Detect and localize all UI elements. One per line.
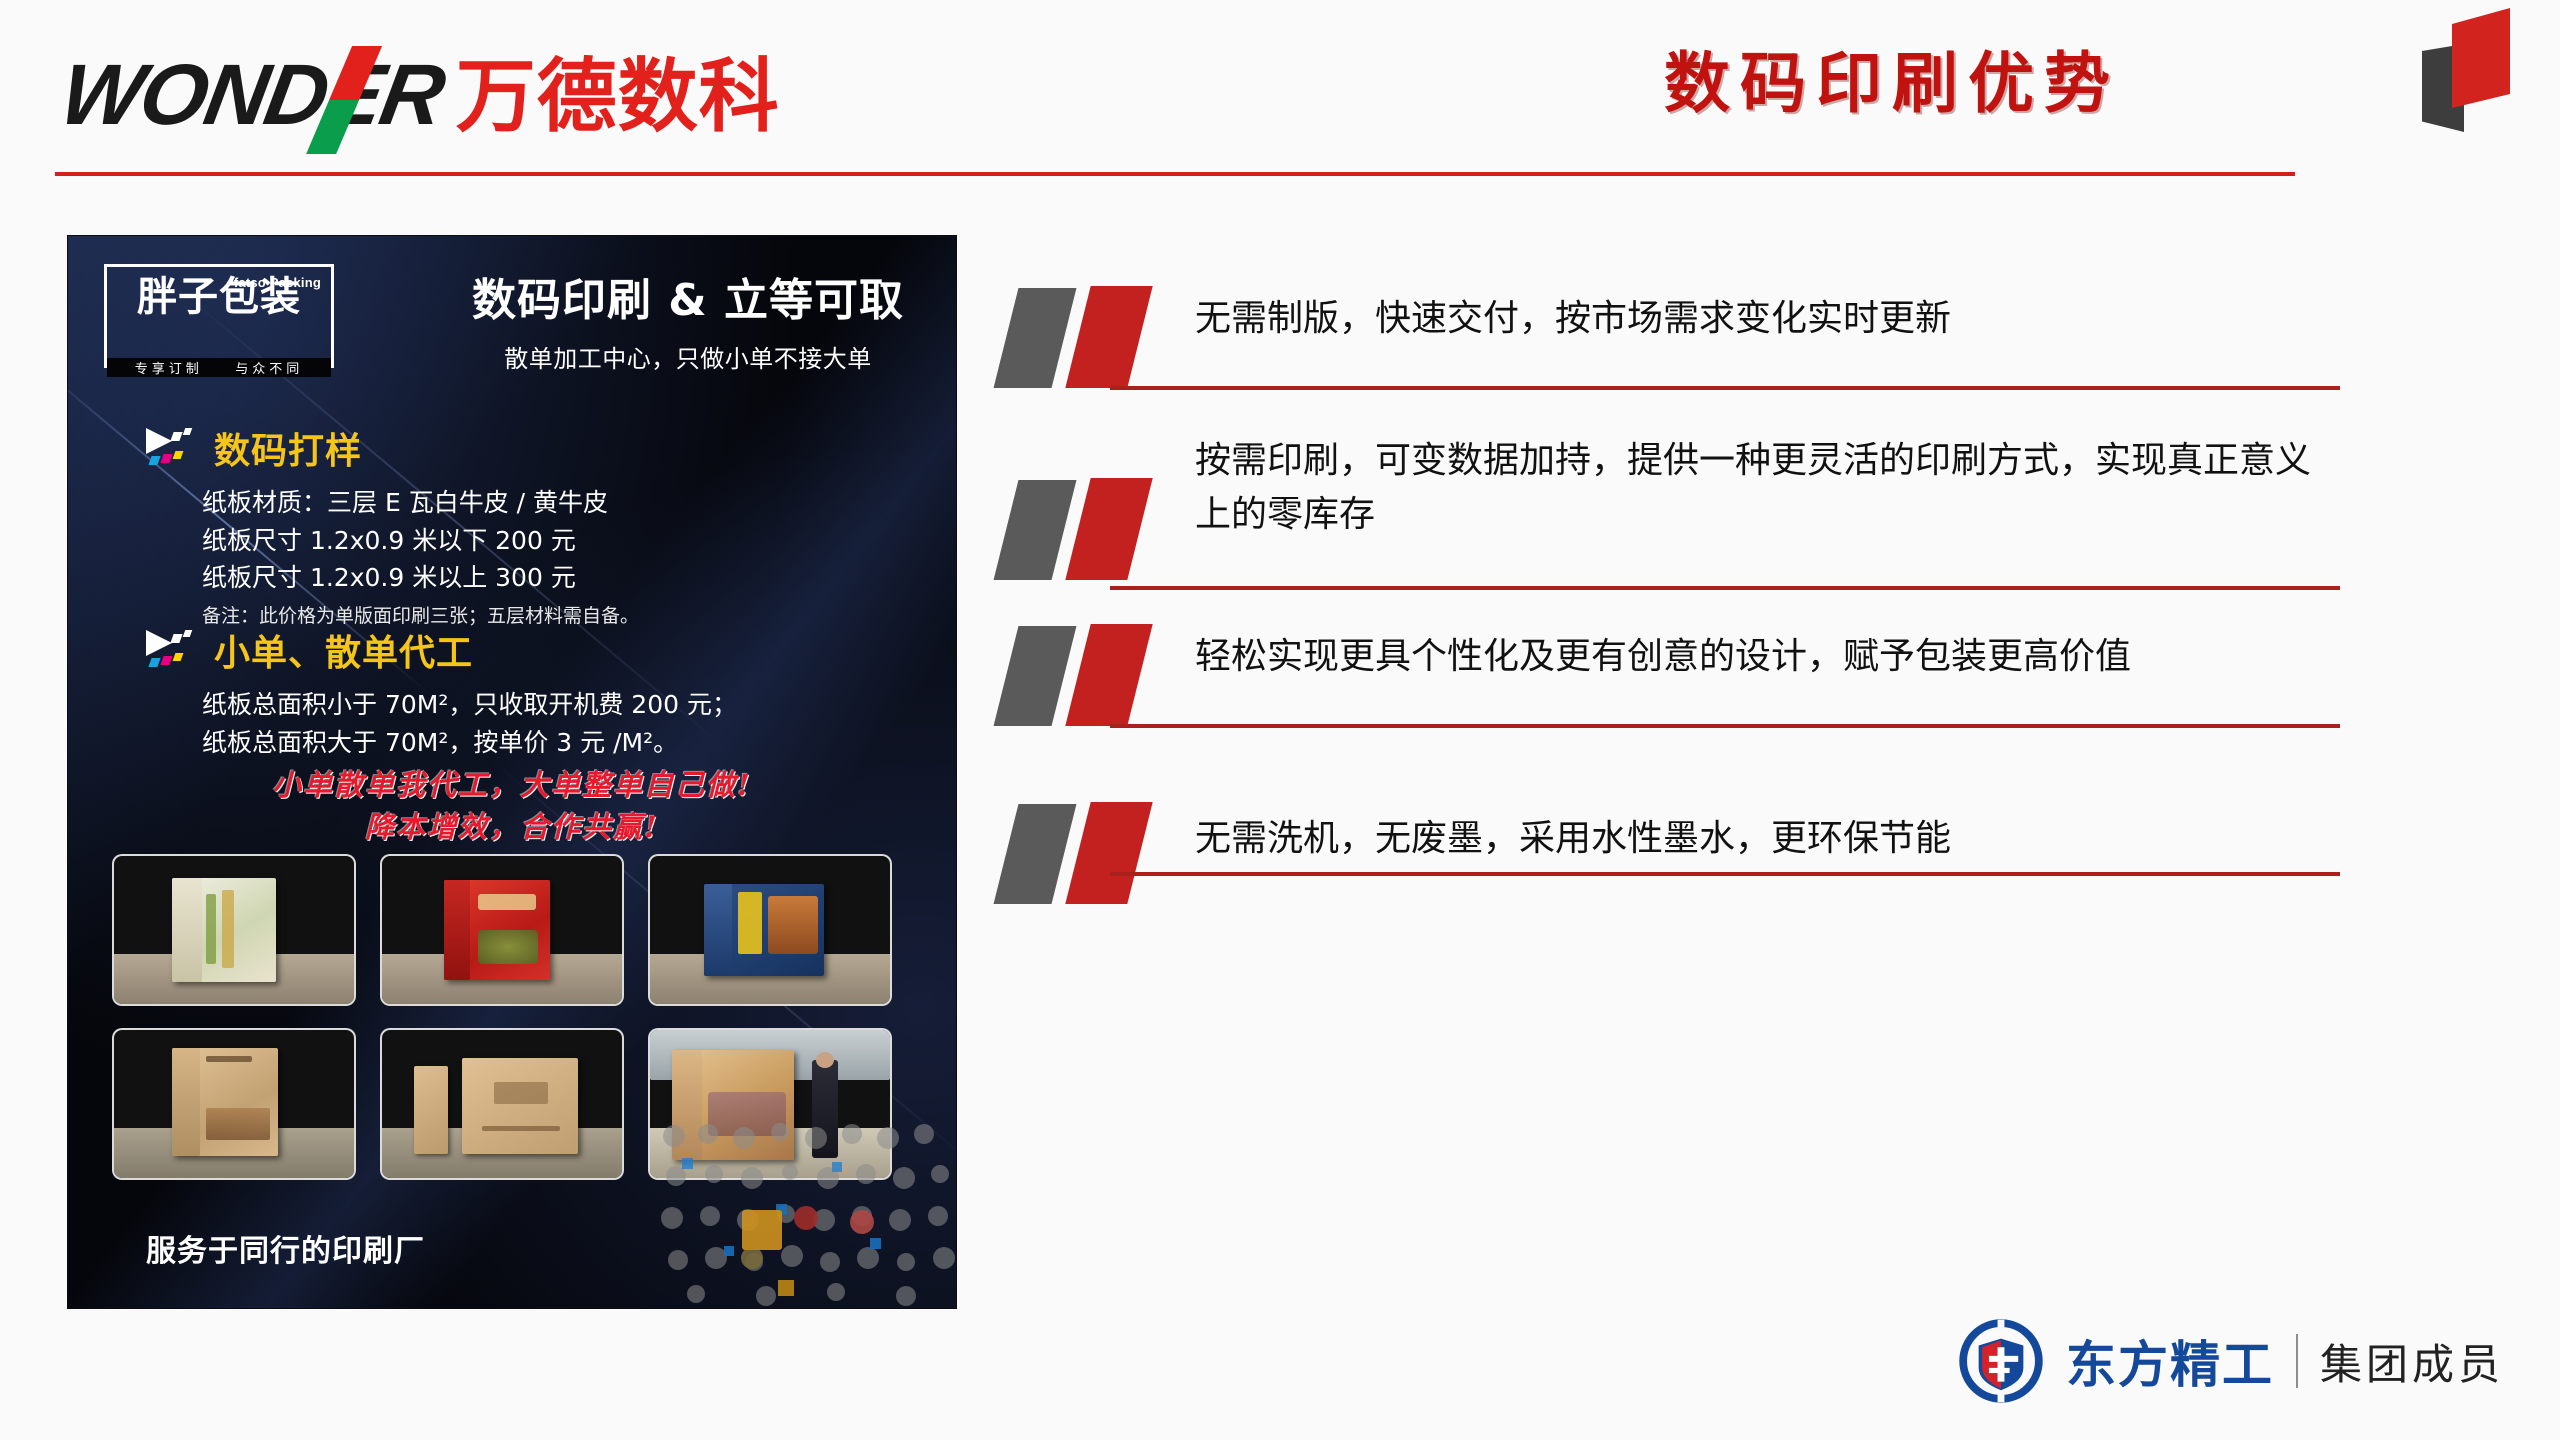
poster-section-proofing: 数码打样 纸板材质：三层 E 瓦白牛皮 / 黄牛皮 纸板尺寸 1.2x0.9 米… bbox=[146, 422, 639, 628]
poster-section-heading: 数码打样 bbox=[146, 422, 639, 474]
advantage-item: 无需制版，快速交付，按市场需求变化实时更新 bbox=[1000, 286, 2340, 352]
brand-latin-label: WONDER bbox=[54, 47, 451, 143]
advantage-text: 轻松实现更具个性化及更有创意的设计，赋予包装更高价值 bbox=[1195, 624, 2340, 690]
product-photo-red-gift-box bbox=[380, 854, 624, 1006]
poster-headline: 数码印刷 & 立等可取 bbox=[448, 276, 928, 327]
header-divider bbox=[55, 172, 2295, 176]
poster-slogan-line-2: 降本增效，合作共赢! bbox=[68, 806, 956, 848]
promo-poster: 胖子包装 fatso Packing 专享订制 与众不同 数码印刷 & 立等可取… bbox=[68, 236, 956, 1308]
group-member-logo: 东方精工 集团成员 bbox=[1958, 1318, 2504, 1404]
product-photo-classic-kraft-boxes bbox=[380, 1028, 624, 1180]
poster-logo-tagline: 专享订制 与众不同 bbox=[107, 358, 331, 377]
bullet-marker-gray-bar bbox=[994, 804, 1077, 904]
bullet-marker-icon bbox=[1000, 478, 1170, 582]
brand-chinese-label: 万德数科 bbox=[456, 57, 780, 137]
poster-headline-block: 数码印刷 & 立等可取 散单加工中心，只做小单不接大单 bbox=[448, 276, 928, 374]
halftone-dot-pattern-icon bbox=[656, 1118, 956, 1308]
bullet-marker-red-bar bbox=[1065, 624, 1152, 726]
corner-bookmark-icon bbox=[2422, 8, 2516, 136]
advantage-item: 按需印刷，可变数据加持，提供一种更灵活的印刷方式，实现真正意义上的零库存 bbox=[1000, 434, 2340, 542]
poster-section-oem: 小单、散单代工 纸板总面积小于 70M²，只收取开机费 200 元； 纸板总面积… bbox=[146, 624, 737, 761]
bullet-marker-gray-bar bbox=[994, 480, 1077, 580]
poster-section-line: 纸板总面积小于 70M²，只收取开机费 200 元； bbox=[202, 686, 737, 724]
poster-footer-text: 服务于同行的印刷厂 bbox=[146, 1226, 425, 1270]
advantage-text: 按需印刷，可变数据加持，提供一种更灵活的印刷方式，实现真正意义上的零库存 bbox=[1195, 434, 2340, 542]
product-photo-honey-gift-box bbox=[112, 854, 356, 1006]
advantage-text: 无需洗机，无废墨，采用水性墨水，更环保节能 bbox=[1195, 772, 2340, 872]
poster-logo-tagline-right: 与众不同 bbox=[235, 362, 303, 377]
poster-section-title: 小单、散单代工 bbox=[214, 624, 473, 676]
poster-section-line: 纸板总面积大于 70M²，按单价 3 元 /M²。 bbox=[202, 724, 737, 762]
advantages-list: 无需制版，快速交付，按市场需求变化实时更新 按需印刷，可变数据加持，提供一种更灵… bbox=[1000, 286, 2340, 954]
slide-root: WONDER 万德数科 数码印刷优势 胖子包装 fatso Packing 专享… bbox=[0, 0, 2560, 1440]
bullet-marker-gray-bar bbox=[994, 288, 1077, 388]
advantage-underline bbox=[1110, 386, 2340, 390]
poster-section-heading: 小单、散单代工 bbox=[146, 624, 737, 676]
advantage-item: 轻松实现更具个性化及更有创意的设计，赋予包装更高价值 bbox=[1000, 624, 2340, 690]
product-photo-kraft-landscape-box bbox=[112, 1028, 356, 1180]
bullet-marker-icon bbox=[1000, 802, 1170, 906]
advantage-item: 无需洗机，无废墨，采用水性墨水，更环保节能 bbox=[1000, 772, 2340, 872]
bullet-marker-icon bbox=[1000, 286, 1170, 390]
poster-section-line: 纸板材质：三层 E 瓦白牛皮 / 黄牛皮 bbox=[202, 484, 639, 522]
poster-slogan-line-1: 小单散单我代工，大单整单自己做! bbox=[68, 764, 956, 806]
bullet-marker-red-bar bbox=[1065, 478, 1152, 580]
bullet-marker-gray-bar bbox=[994, 626, 1077, 726]
poster-section-title: 数码打样 bbox=[214, 422, 362, 474]
dongfang-emblem-icon bbox=[1958, 1318, 2044, 1404]
arrow-bullet-icon bbox=[146, 426, 200, 470]
poster-section-line: 纸板尺寸 1.2x0.9 米以上 300 元 bbox=[202, 559, 639, 597]
advantage-underline bbox=[1110, 586, 2340, 590]
poster-logo-tagline-left: 专享订制 bbox=[135, 362, 203, 377]
arrow-bullet-icon bbox=[146, 628, 200, 672]
advantage-underline bbox=[1110, 724, 2340, 728]
poster-logo-frame: 胖子包装 fatso Packing 专享订制 与众不同 bbox=[104, 264, 334, 368]
corner-bookmark-red-shape bbox=[2452, 8, 2510, 108]
bullet-marker-red-bar bbox=[1065, 802, 1152, 904]
brand-latin-text: WONDER bbox=[54, 52, 449, 138]
page-title: 数码印刷优势 bbox=[1664, 48, 2120, 121]
poster-logo-english: fatso Packing bbox=[234, 275, 321, 290]
footer-divider bbox=[2296, 1334, 2298, 1388]
bullet-marker-icon bbox=[1000, 624, 1170, 728]
product-photo-beef-carton bbox=[648, 854, 892, 1006]
poster-subheadline: 散单加工中心，只做小单不接大单 bbox=[448, 339, 928, 374]
poster-section-line: 纸板尺寸 1.2x0.9 米以下 200 元 bbox=[202, 522, 639, 560]
group-member-label: 集团成员 bbox=[2320, 1331, 2504, 1392]
group-company-name: 东方精工 bbox=[2066, 1325, 2274, 1397]
company-logo: WONDER 万德数科 bbox=[62, 52, 780, 138]
bullet-marker-red-bar bbox=[1065, 286, 1152, 388]
advantage-text: 无需制版，快速交付，按市场需求变化实时更新 bbox=[1195, 286, 2340, 352]
advantage-underline bbox=[1110, 872, 2340, 876]
